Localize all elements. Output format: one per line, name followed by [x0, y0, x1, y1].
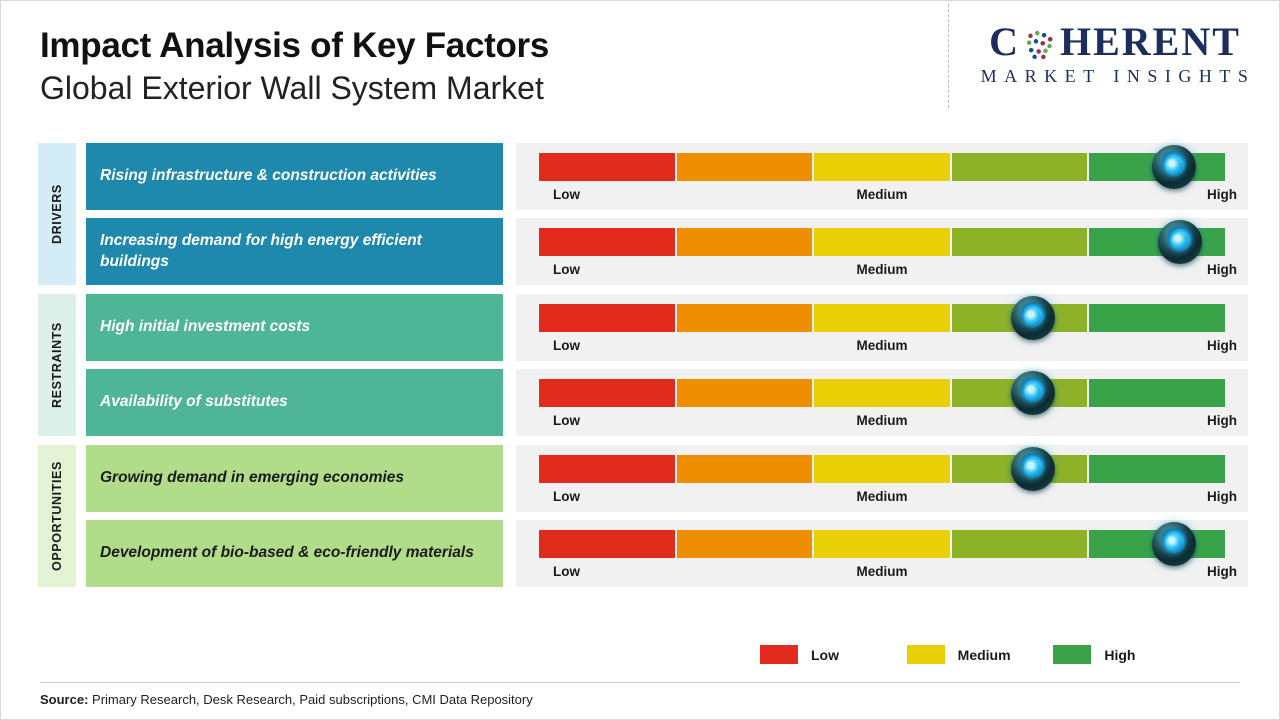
logo-letter-c: C — [989, 22, 1020, 62]
factor-label: Rising infrastructure & construction act… — [86, 143, 503, 210]
gauge-segment-3 — [814, 228, 950, 256]
factor-rows: Growing demand in emerging economiesLowM… — [86, 445, 1248, 587]
logo-tagline: MARKET INSIGHTS — [965, 66, 1265, 87]
factor-label: Growing demand in emerging economies — [86, 445, 503, 512]
gauge-segment-4 — [952, 228, 1088, 256]
gauge-segment-1 — [539, 530, 675, 558]
gauge-scale-labels: LowMediumHigh — [539, 410, 1225, 436]
header: Impact Analysis of Key Factors Global Ex… — [40, 28, 920, 107]
factor-row: Increasing demand for high energy effici… — [86, 218, 1248, 285]
legend: LowMediumHigh — [760, 645, 1200, 664]
scale-label-medium: Medium — [856, 489, 907, 504]
impact-gauge: LowMediumHigh — [516, 445, 1248, 512]
scale-label-high: High — [1207, 262, 1237, 277]
scale-label-low: Low — [553, 413, 580, 428]
gauge-scale-labels: LowMediumHigh — [539, 486, 1225, 512]
legend-label: High — [1104, 647, 1135, 663]
source-text: Primary Research, Desk Research, Paid su… — [88, 692, 532, 707]
scale-label-low: Low — [553, 564, 580, 579]
legend-item: Low — [760, 645, 907, 664]
gauge-bar — [539, 153, 1225, 181]
legend-swatch-low — [760, 645, 798, 664]
page-title: Impact Analysis of Key Factors — [40, 28, 920, 65]
legend-item: High — [1053, 645, 1200, 664]
scale-label-high: High — [1207, 187, 1237, 202]
factor-label: Availability of substitutes — [86, 369, 503, 436]
gauge-segment-3 — [814, 304, 950, 332]
scale-label-high: High — [1207, 413, 1237, 428]
gauge-scale-labels: LowMediumHigh — [539, 184, 1225, 210]
gauge-segment-1 — [539, 153, 675, 181]
scale-label-low: Low — [553, 187, 580, 202]
gauge-segment-5 — [1089, 379, 1225, 407]
gauge-segment-3 — [814, 153, 950, 181]
gauge-segment-5 — [1089, 455, 1225, 483]
gauge-segment-4 — [952, 153, 1088, 181]
scale-label-medium: Medium — [856, 564, 907, 579]
impact-gauge: LowMediumHigh — [516, 520, 1248, 587]
gauge-segment-5 — [1089, 228, 1225, 256]
scale-label-medium: Medium — [856, 187, 907, 202]
factor-rows: Rising infrastructure & construction act… — [86, 143, 1248, 285]
gauge-bar — [539, 379, 1225, 407]
factor-row: High initial investment costsLowMediumHi… — [86, 294, 1248, 361]
coherent-market-insights-logo: C HERENT MARKET INSIGHTS — [965, 22, 1265, 87]
gauge-bar — [539, 530, 1225, 558]
gauge-segment-2 — [677, 530, 813, 558]
logo-wordmark: C HERENT — [965, 22, 1265, 62]
gauge-scale-labels: LowMediumHigh — [539, 335, 1225, 361]
page-subtitle: Global Exterior Wall System Market — [40, 71, 920, 107]
scale-label-low: Low — [553, 338, 580, 353]
scale-label-low: Low — [553, 489, 580, 504]
gauge-segment-4 — [952, 530, 1088, 558]
factor-group: High initial investment costsLowMediumHi… — [38, 294, 1248, 436]
gauge-bar — [539, 228, 1225, 256]
legend-swatch-high — [1053, 645, 1091, 664]
source-note: Source: Primary Research, Desk Research,… — [40, 692, 533, 707]
gauge-bar — [539, 455, 1225, 483]
category-label-opportunities: OPPORTUNITIES — [38, 445, 76, 587]
impact-marker[interactable] — [1152, 145, 1196, 189]
gauge-segment-3 — [814, 530, 950, 558]
gauge-segment-3 — [814, 455, 950, 483]
gauge-bar — [539, 304, 1225, 332]
category-label-restraints: RESTRAINTS — [38, 294, 76, 436]
impact-gauge: LowMediumHigh — [516, 294, 1248, 361]
gauge-segment-2 — [677, 304, 813, 332]
scale-label-high: High — [1207, 489, 1237, 504]
gauge-segment-2 — [677, 228, 813, 256]
impact-gauge: LowMediumHigh — [516, 143, 1248, 210]
gauge-segment-1 — [539, 228, 675, 256]
impact-gauge: LowMediumHigh — [516, 369, 1248, 436]
dotted-globe-icon — [1021, 25, 1059, 63]
factor-rows: High initial investment costsLowMediumHi… — [86, 294, 1248, 436]
legend-label: Low — [811, 647, 839, 663]
gauge-scale-labels: LowMediumHigh — [539, 561, 1225, 587]
legend-swatch-medium — [907, 645, 945, 664]
factor-group: Rising infrastructure & construction act… — [38, 143, 1248, 285]
source-label: Source: — [40, 692, 88, 707]
factor-row: Development of bio-based & eco-friendly … — [86, 520, 1248, 587]
scale-label-low: Low — [553, 262, 580, 277]
factor-group: Growing demand in emerging economiesLowM… — [38, 445, 1248, 587]
factor-label: Development of bio-based & eco-friendly … — [86, 520, 503, 587]
gauge-segment-5 — [1089, 304, 1225, 332]
factor-row: Availability of substitutesLowMediumHigh — [86, 369, 1248, 436]
legend-label: Medium — [958, 647, 1011, 663]
scale-label-medium: Medium — [856, 338, 907, 353]
impact-matrix: Rising infrastructure & construction act… — [38, 143, 1248, 587]
footer-divider — [40, 682, 1240, 683]
scale-label-medium: Medium — [856, 262, 907, 277]
impact-marker[interactable] — [1011, 371, 1055, 415]
scale-label-high: High — [1207, 338, 1237, 353]
impact-marker[interactable] — [1011, 296, 1055, 340]
impact-marker[interactable] — [1011, 447, 1055, 491]
factor-row: Growing demand in emerging economiesLowM… — [86, 445, 1248, 512]
gauge-segment-2 — [677, 153, 813, 181]
legend-item: Medium — [907, 645, 1054, 664]
category-label-drivers: DRIVERS — [38, 143, 76, 285]
gauge-scale-labels: LowMediumHigh — [539, 259, 1225, 285]
gauge-segment-3 — [814, 379, 950, 407]
factor-label: Increasing demand for high energy effici… — [86, 218, 503, 285]
logo-divider — [948, 4, 949, 108]
gauge-segment-1 — [539, 379, 675, 407]
impact-marker[interactable] — [1152, 522, 1196, 566]
gauge-segment-2 — [677, 379, 813, 407]
gauge-segment-1 — [539, 304, 675, 332]
impact-gauge: LowMediumHigh — [516, 218, 1248, 285]
factor-label: High initial investment costs — [86, 294, 503, 361]
gauge-segment-1 — [539, 455, 675, 483]
factor-row: Rising infrastructure & construction act… — [86, 143, 1248, 210]
logo-letters-herent: HERENT — [1060, 22, 1241, 62]
scale-label-medium: Medium — [856, 413, 907, 428]
scale-label-high: High — [1207, 564, 1237, 579]
gauge-segment-2 — [677, 455, 813, 483]
impact-marker[interactable] — [1158, 220, 1202, 264]
